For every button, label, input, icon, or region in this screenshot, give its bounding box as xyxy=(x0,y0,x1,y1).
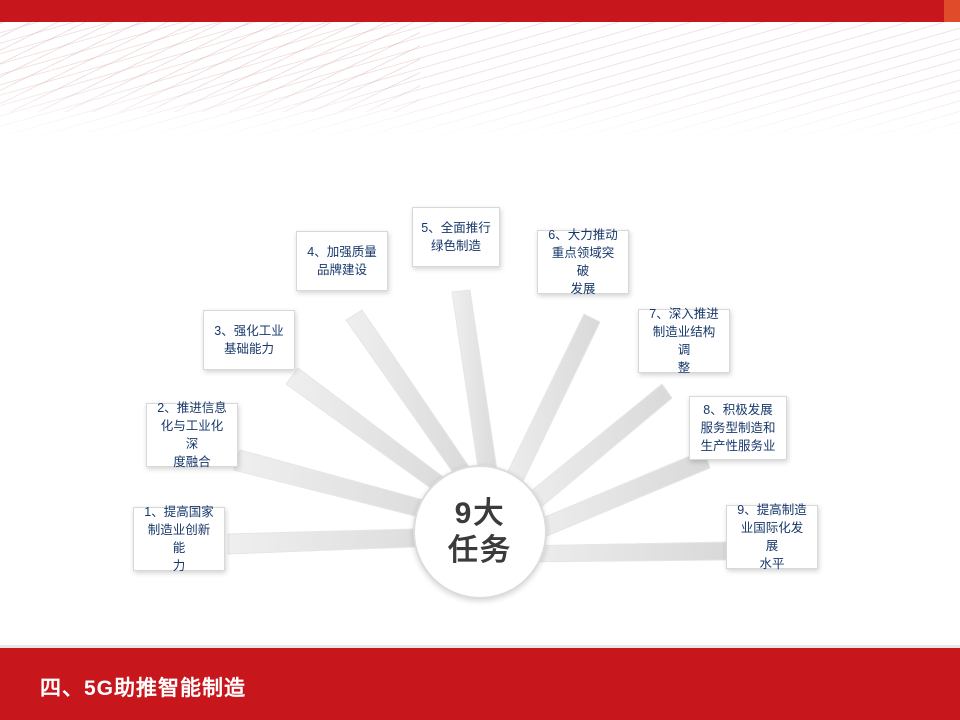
slide: 9大 任务 1、提高国家 制造业创新能 力 2、推进信息 化与工业化深 度融合 … xyxy=(0,0,960,720)
diagram-node-9[interactable]: 9、提高制造 业国际化发展 水平 xyxy=(726,505,818,569)
diagram-node-6-label: 6、大力推动 重点领域突破 发展 xyxy=(546,226,620,299)
top-red-bar xyxy=(0,0,960,22)
top-bar-accent xyxy=(944,0,960,22)
diagram-node-1[interactable]: 1、提高国家 制造业创新能 力 xyxy=(133,507,225,571)
top-fade-overlay xyxy=(0,80,960,150)
diagram-node-8[interactable]: 8、积极发展 服务型制造和 生产性服务业 xyxy=(689,396,787,460)
diagram-node-6[interactable]: 6、大力推动 重点领域突破 发展 xyxy=(537,230,629,294)
diagram-node-4-label: 4、加强质量 品牌建设 xyxy=(307,243,376,279)
diagram-node-5-label: 5、全面推行 绿色制造 xyxy=(421,219,490,255)
diagram-node-9-label: 9、提高制造 业国际化发展 水平 xyxy=(735,501,809,574)
radial-diagram: 9大 任务 1、提高国家 制造业创新能 力 2、推进信息 化与工业化深 度融合 … xyxy=(0,150,960,630)
diagram-node-7-label: 7、深入推进 制造业结构调 整 xyxy=(647,305,721,378)
hub-line-1: 9大 xyxy=(455,495,506,533)
diagram-node-2-label: 2、推进信息 化与工业化深 度融合 xyxy=(155,399,229,472)
diagram-node-4[interactable]: 4、加强质量 品牌建设 xyxy=(296,231,388,291)
diagram-node-5[interactable]: 5、全面推行 绿色制造 xyxy=(412,207,500,267)
diagram-node-3-label: 3、强化工业 基础能力 xyxy=(214,322,283,358)
footer-title: 四、5G助推智能制造 xyxy=(40,672,246,702)
diagram-node-1-label: 1、提高国家 制造业创新能 力 xyxy=(142,503,216,576)
diagram-hub: 9大 任务 xyxy=(413,465,547,599)
diagram-node-2[interactable]: 2、推进信息 化与工业化深 度融合 xyxy=(146,403,238,467)
hub-line-2: 任务 xyxy=(448,532,512,570)
diagram-node-8-label: 8、积极发展 服务型制造和 生产性服务业 xyxy=(700,401,775,455)
diagram-node-3[interactable]: 3、强化工业 基础能力 xyxy=(203,310,295,370)
diagram-node-7[interactable]: 7、深入推进 制造业结构调 整 xyxy=(638,309,730,373)
footer-band: 四、5G助推智能制造 xyxy=(0,648,960,720)
